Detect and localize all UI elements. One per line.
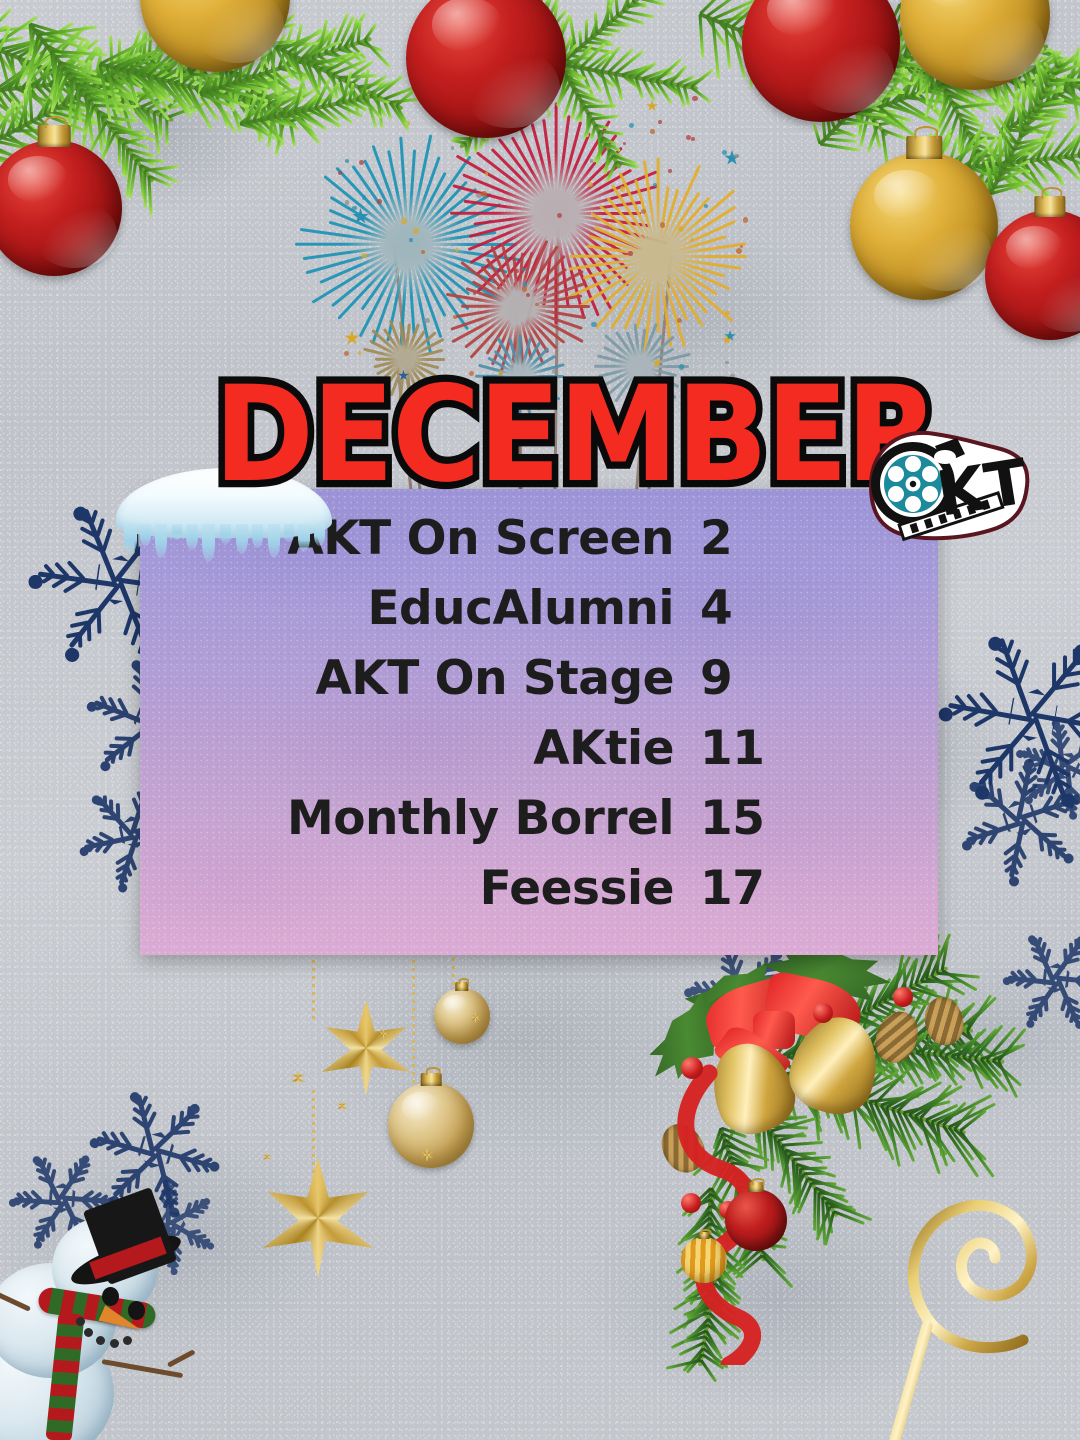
holly-berry: [813, 1003, 833, 1023]
snowman-arm-right-twig: [167, 1349, 196, 1367]
page-title: DECEMBER: [214, 368, 937, 500]
snowflake-icon: [1003, 925, 1080, 1031]
snowflake-twig: [87, 622, 92, 641]
bauble-highlight: [443, 995, 468, 1014]
event-name: AKtie: [140, 721, 674, 776]
icicle: [268, 524, 280, 558]
red-hanging-bauble: [725, 1189, 787, 1251]
snowflake-twig: [78, 634, 82, 649]
snowflake-twig: [74, 1163, 79, 1175]
snowflake-twig: [1052, 663, 1056, 689]
holly-berry: [681, 1057, 703, 1079]
snowflake-tip-dot: [1069, 811, 1078, 820]
event-row[interactable]: AKtie11: [140, 721, 938, 791]
snowflake-twig: [984, 802, 1002, 807]
icicle: [314, 524, 325, 546]
firework-spark: [596, 260, 599, 263]
firework-spark: [481, 191, 486, 196]
icicle: [186, 524, 198, 550]
icicle: [284, 524, 294, 542]
event-day: 2: [674, 511, 794, 566]
bauble-highlight: [874, 170, 939, 220]
snowflake-tip-dot: [79, 846, 89, 856]
bauble-highlight: [402, 1092, 440, 1121]
logo-letters: KT: [932, 445, 1033, 531]
bauble-highlight: [1006, 226, 1063, 270]
bauble-crescent: [951, 6, 1044, 81]
bauble-cap: [749, 1182, 764, 1192]
event-name: Monthly Borrel: [140, 791, 674, 846]
gold-bauble-topright-b: [850, 152, 998, 300]
icicle: [236, 524, 248, 554]
event-list: AKT On Screen2EducAlumni4AKT On Stage9AK…: [140, 511, 938, 931]
event-day: 4: [674, 581, 794, 636]
firework-spark: [345, 200, 349, 204]
snowflake-twig: [1049, 840, 1063, 844]
firework-spark: [522, 286, 527, 291]
bead-string: [412, 960, 415, 1090]
bauble-cap: [906, 136, 942, 160]
snowflake-twig: [1056, 847, 1067, 851]
icicle: [172, 524, 182, 540]
gold-hanging-bauble: [388, 1082, 474, 1168]
icicle: [252, 524, 263, 548]
bauble-cap: [421, 1073, 442, 1087]
bauble-highlight: [767, 0, 837, 37]
bead-string: [312, 960, 315, 1020]
icicle: [140, 524, 151, 546]
icicle: [155, 524, 167, 558]
firework-spark: [628, 251, 632, 255]
firework-spark: [409, 238, 412, 241]
icicle: [124, 524, 137, 554]
snowflake-twig: [97, 610, 102, 634]
event-name: EducAlumni: [140, 581, 674, 636]
firework-spark: [660, 222, 666, 228]
snowman-mouth-dot: [76, 1317, 85, 1326]
reel-hub-center: [910, 481, 916, 487]
snowflake-twig: [103, 815, 119, 821]
firework-spark: [401, 218, 407, 224]
bauble-crescent: [796, 34, 894, 113]
event-name: AKT On Stage: [140, 651, 674, 706]
holly-berry: [893, 987, 913, 1007]
snowflake-twig: [172, 1130, 190, 1135]
snowflake-twig: [110, 753, 116, 764]
snowflake-twig: [68, 1168, 73, 1183]
snowflake-twig: [1063, 948, 1068, 963]
bauble-cap: [455, 982, 468, 991]
firework-spark: [535, 303, 539, 307]
bauble-highlight: [8, 156, 68, 202]
snowflake-twig: [979, 795, 993, 799]
event-day: 9: [674, 651, 794, 706]
event-day: 15: [674, 791, 794, 846]
firework-spark: [677, 318, 682, 323]
firework-spark: [690, 238, 694, 242]
bauble-crescent: [1029, 267, 1080, 332]
event-name: Feessie: [140, 861, 674, 916]
firework-spark: [352, 206, 356, 210]
snowflake-twig: [135, 1171, 141, 1189]
snowflake-arm: [1021, 817, 1067, 860]
event-row[interactable]: Feessie17: [140, 861, 938, 931]
bauble-crescent: [460, 48, 559, 128]
firework-spark: [424, 318, 430, 324]
firework-spark: [358, 351, 362, 355]
event-day: 11: [674, 721, 794, 776]
snowflake-twig: [123, 612, 134, 636]
firework-spark: [653, 183, 657, 187]
snowflake-twig: [1033, 1012, 1038, 1021]
icicle: [298, 524, 310, 552]
bauble-cap: [1034, 196, 1065, 217]
firework-spark: [453, 315, 457, 319]
snowflake-twig: [1069, 943, 1074, 955]
firework-spark: [421, 250, 425, 254]
snowman-decoration: [0, 1205, 240, 1440]
firework-spark: [362, 195, 366, 199]
akt-logo-svg: KT: [857, 424, 1033, 546]
red-curling-ribbon: [625, 945, 975, 1365]
firework-spark: [722, 150, 727, 155]
snowflake-tip-dot: [28, 574, 43, 589]
bauble-cap: [38, 125, 71, 147]
akt-logo[interactable]: KT: [857, 424, 1033, 546]
firework-spark: [734, 154, 739, 159]
firework-spark: [736, 248, 742, 254]
event-row[interactable]: EducAlumni4: [140, 581, 938, 651]
event-day: 17: [674, 861, 794, 916]
snowflake-twig: [102, 708, 117, 716]
event-row[interactable]: AKT On Stage9: [140, 651, 938, 721]
snowman-eye-left: [102, 1287, 119, 1306]
firework-spark: [704, 204, 708, 208]
snowflake-twig: [99, 808, 112, 814]
snowman-mouth-dot: [96, 1336, 105, 1345]
firework-spark: [691, 137, 695, 141]
firework-spark: [620, 186, 625, 191]
firework-spark: [413, 228, 419, 234]
event-row[interactable]: Monthly Borrel15: [140, 791, 938, 861]
bauble-highlight: [432, 0, 502, 52]
bauble-crescent: [32, 200, 116, 268]
snowflake-twig: [1038, 1005, 1043, 1017]
firework-spark: [658, 120, 662, 124]
firework-spark: [345, 159, 349, 163]
snowflake-twig: [109, 712, 127, 721]
holly-berry: [681, 1193, 701, 1213]
firework-spark: [650, 129, 654, 133]
firework-spark: [485, 172, 488, 175]
icicle: [202, 524, 215, 562]
december-poster: DECEMBER AKT On Screen2EducAlumni4AKT On…: [0, 0, 1080, 1440]
firework-spark: [557, 213, 562, 218]
holly-bells-decoration: [625, 945, 975, 1365]
snowman-mouth-dot: [84, 1328, 93, 1337]
firework-spark: [591, 322, 596, 327]
firework-spark: [361, 253, 366, 258]
bauble-cap: [698, 1232, 709, 1239]
snowflake-twig: [1063, 655, 1067, 675]
snowflake-twig: [127, 1179, 132, 1194]
firework-spark: [629, 123, 634, 128]
snowman-mouth-dot: [110, 1339, 119, 1348]
icicles-group: [122, 524, 332, 568]
firework-spark: [692, 96, 697, 101]
orange-hanging-bauble: [681, 1237, 727, 1283]
gold-hanging-bauble: [434, 988, 490, 1044]
snowflake-twig: [1040, 833, 1058, 838]
bauble-crescent: [900, 217, 992, 291]
snowflake-twig: [1033, 791, 1039, 800]
snowman-mouth-dot: [123, 1336, 132, 1345]
snowflake-tip-dot: [1002, 977, 1011, 986]
firework-spark: [473, 292, 476, 295]
icicle: [220, 524, 231, 544]
snowflake-twig: [1075, 970, 1080, 981]
firework-spark: [725, 311, 729, 315]
firework-spark: [377, 199, 382, 204]
firework-spark: [668, 169, 672, 173]
